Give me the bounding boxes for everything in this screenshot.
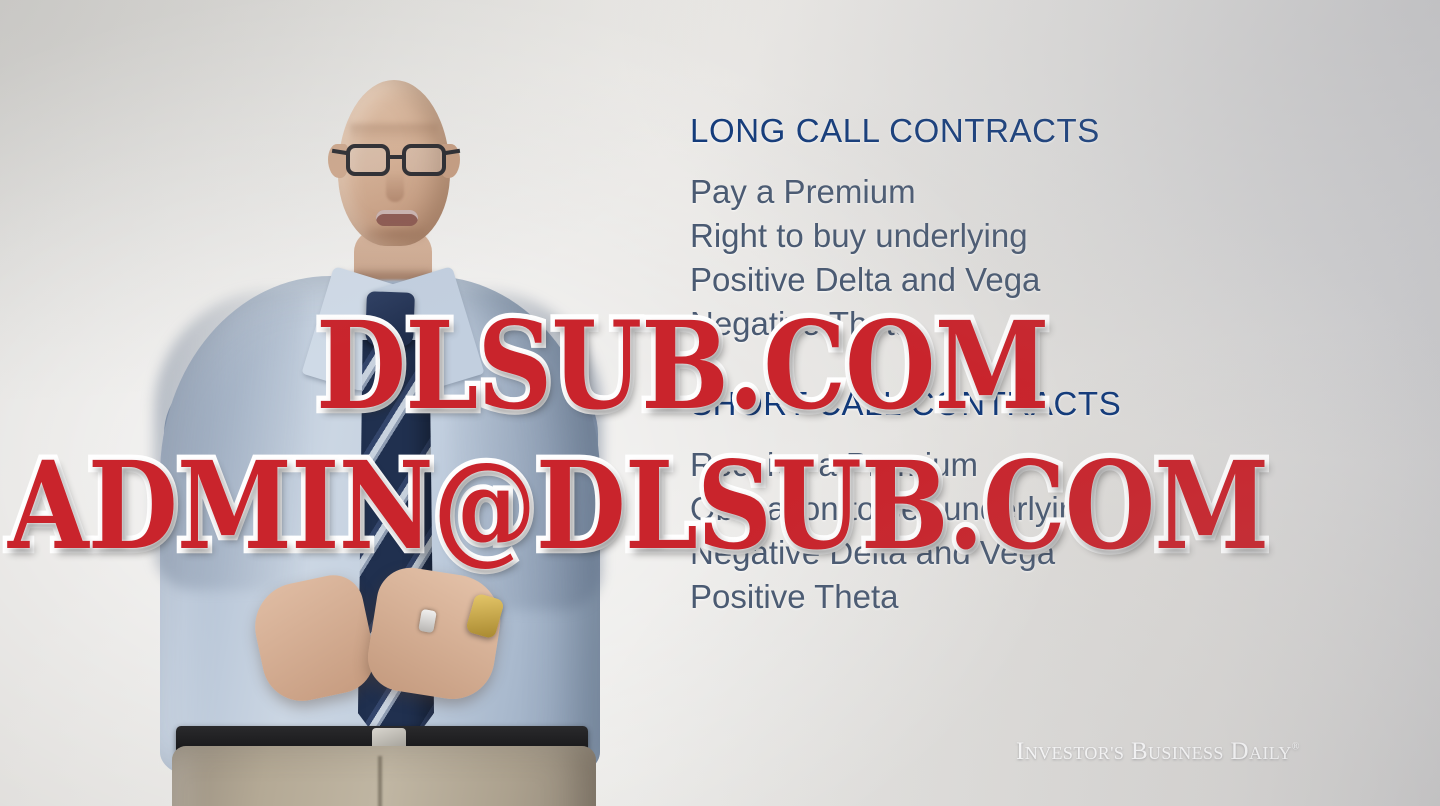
investors-business-daily-logo: INVESTOR'S BUSINESS DAILY® xyxy=(1016,738,1300,766)
presenter-mouth xyxy=(376,210,418,226)
video-frame: LONG CALL CONTRACTS Pay a Premium Right … xyxy=(0,0,1440,806)
trouser-seam xyxy=(378,756,382,806)
eyeglasses-right-lens xyxy=(402,144,446,176)
short-call-bullet-4: Positive Theta xyxy=(690,575,1330,619)
eyeglasses-bridge xyxy=(388,155,404,159)
eyeglasses-left-lens xyxy=(346,144,390,176)
logo-word-investors-rest: NVESTOR'S xyxy=(1025,743,1125,763)
logo-word-business-rest: USINESS xyxy=(1148,743,1224,763)
trousers xyxy=(172,746,596,806)
long-call-bullet-2: Right to buy underlying xyxy=(690,214,1330,258)
logo-word-daily-rest: AILY xyxy=(1249,743,1292,763)
brow-shadow xyxy=(350,124,438,142)
logo-word-daily-cap: D xyxy=(1231,738,1249,765)
long-call-bullet-1: Pay a Premium xyxy=(690,170,1330,214)
logo-word-investors-cap: I xyxy=(1016,738,1025,765)
chin-shadow xyxy=(366,226,426,242)
watermark-site-url: DLSUB.COM xyxy=(316,294,1049,437)
watermark-contact-email: ADMIN@DLSUB.COM xyxy=(8,434,1268,577)
long-call-heading: LONG CALL CONTRACTS xyxy=(690,112,1330,151)
presenter-nose xyxy=(386,172,404,202)
logo-word-business-cap: B xyxy=(1131,738,1148,765)
registered-trademark-mark: ® xyxy=(1292,742,1300,753)
